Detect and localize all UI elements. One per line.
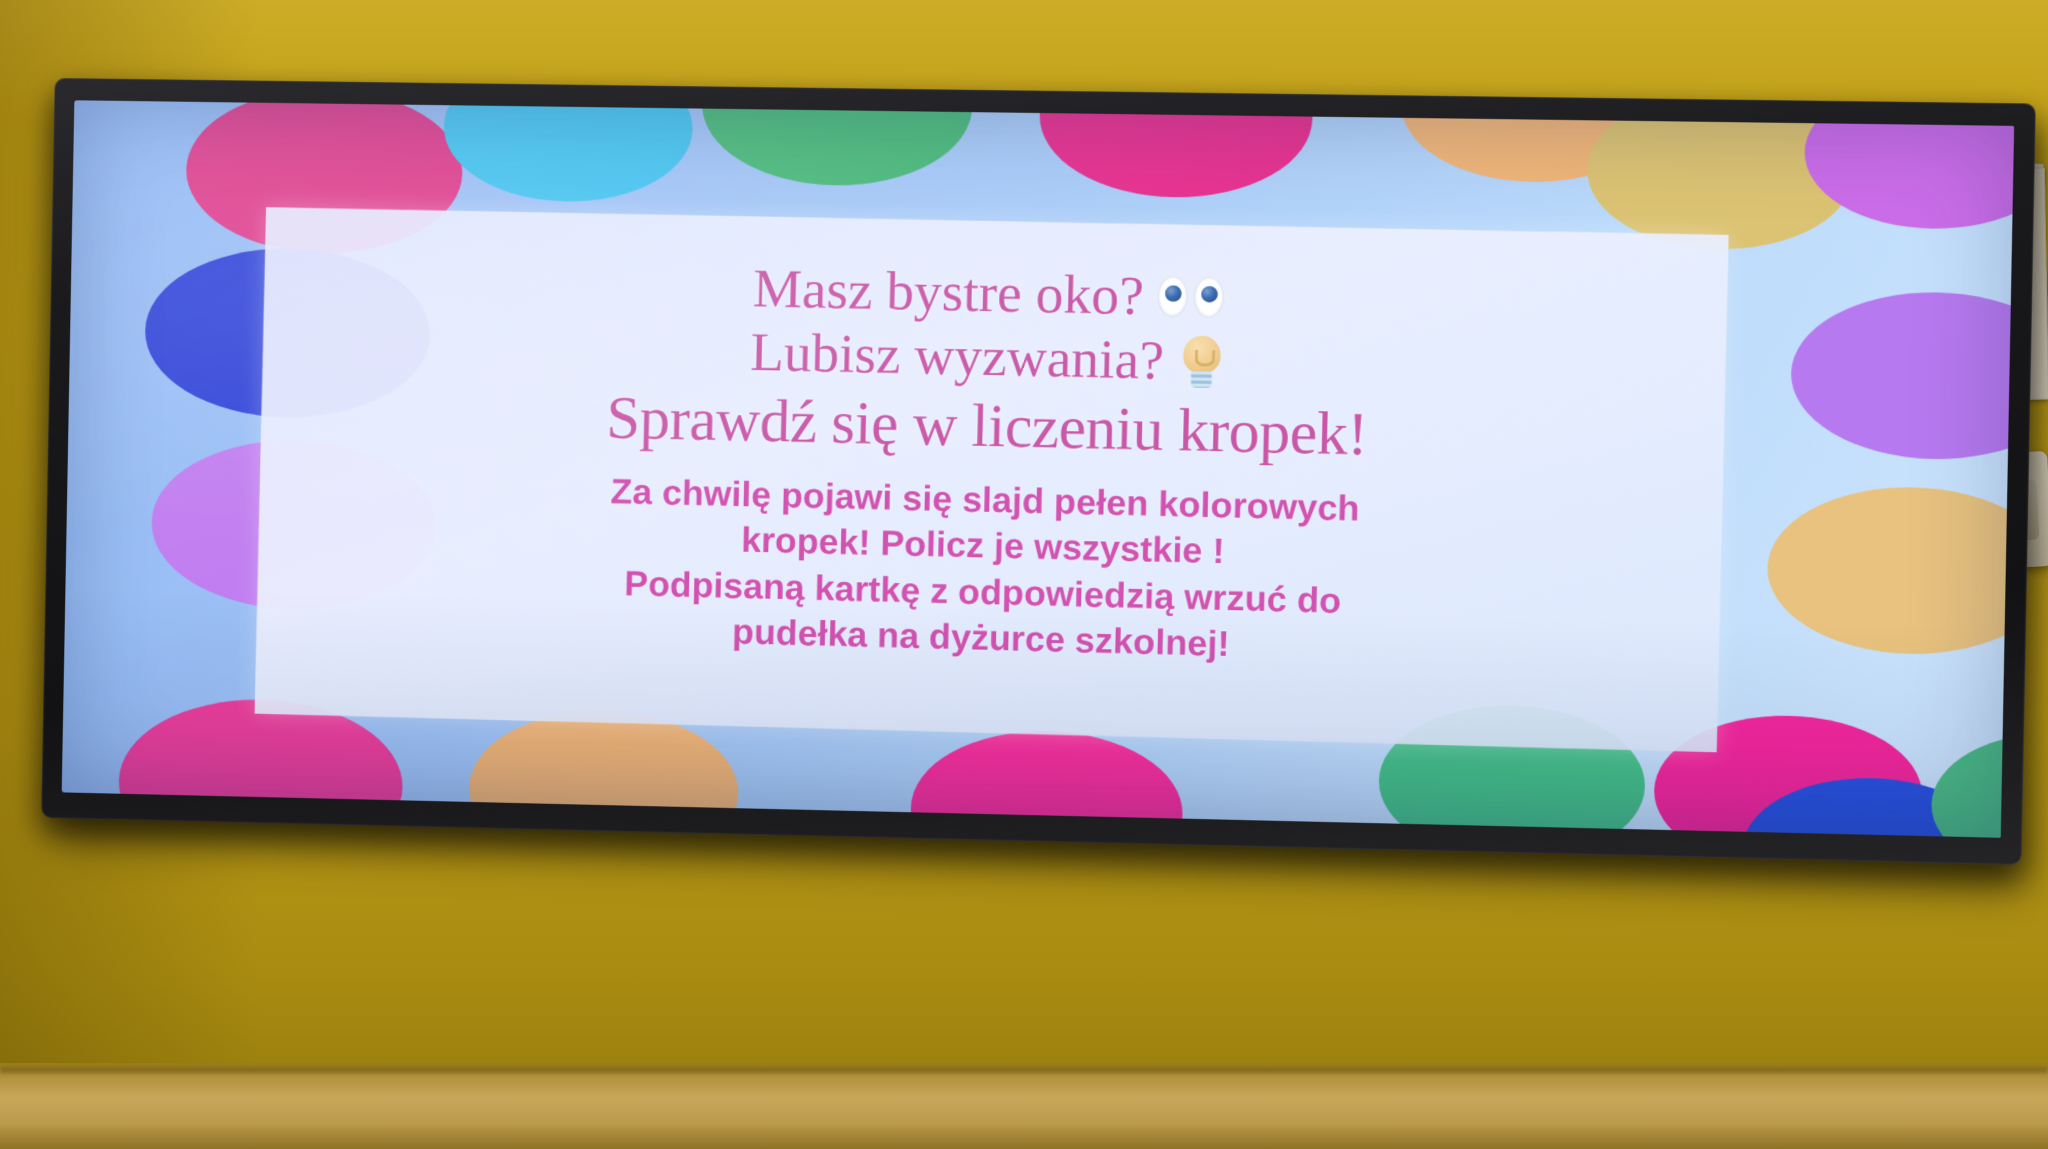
dot-green-bottom-right: [1930, 729, 2014, 837]
slide-heading-3-text: Sprawdź się w liczeniu kropek!: [606, 386, 1369, 467]
slide-heading-1: Masz bystre oko?: [753, 260, 1226, 328]
wooden-skirting: [0, 1063, 2048, 1149]
photo-scene: Masz bystre oko? Lubisz wyzwania?: [0, 0, 2048, 1149]
eye-right: [1194, 277, 1225, 318]
dot-green-top: [701, 100, 974, 187]
light-bulb-icon: [1178, 335, 1225, 389]
dot-cyan-top: [442, 100, 693, 203]
dot-orange-bottom: [468, 708, 739, 838]
slide-content-card: Masz bystre oko? Lubisz wyzwania?: [255, 207, 1729, 752]
dot-pink-top: [1039, 100, 1315, 199]
eye-left: [1158, 277, 1189, 318]
slide-heading-3: Sprawdź się w liczeniu kropek!: [606, 386, 1369, 467]
bulb-base: [1191, 371, 1212, 388]
pupil-right: [1202, 287, 1219, 304]
slide-heading-1-text: Masz bystre oko?: [753, 260, 1145, 326]
dot-violet-right: [1789, 290, 2014, 462]
tv-screen[interactable]: Masz bystre oko? Lubisz wyzwania?: [62, 100, 2014, 838]
slide-heading-2: Lubisz wyzwania?: [750, 324, 1225, 392]
tv-bezel: Masz bystre oko? Lubisz wyzwania?: [41, 78, 2036, 865]
dot-pink-bottom-left: [117, 697, 405, 838]
dot-hotpink-bottom: [910, 728, 1185, 838]
skirting-shadow-line: [0, 1067, 2048, 1073]
wall-mounted-tv: Masz bystre oko? Lubisz wyzwania?: [41, 78, 2036, 865]
dot-sand-right: [1766, 485, 2015, 658]
slide-heading-2-text: Lubisz wyzwania?: [750, 324, 1165, 391]
pupil-left: [1166, 286, 1183, 303]
eyes-emoji: [1158, 277, 1225, 319]
bulb-filament: [1194, 350, 1215, 367]
